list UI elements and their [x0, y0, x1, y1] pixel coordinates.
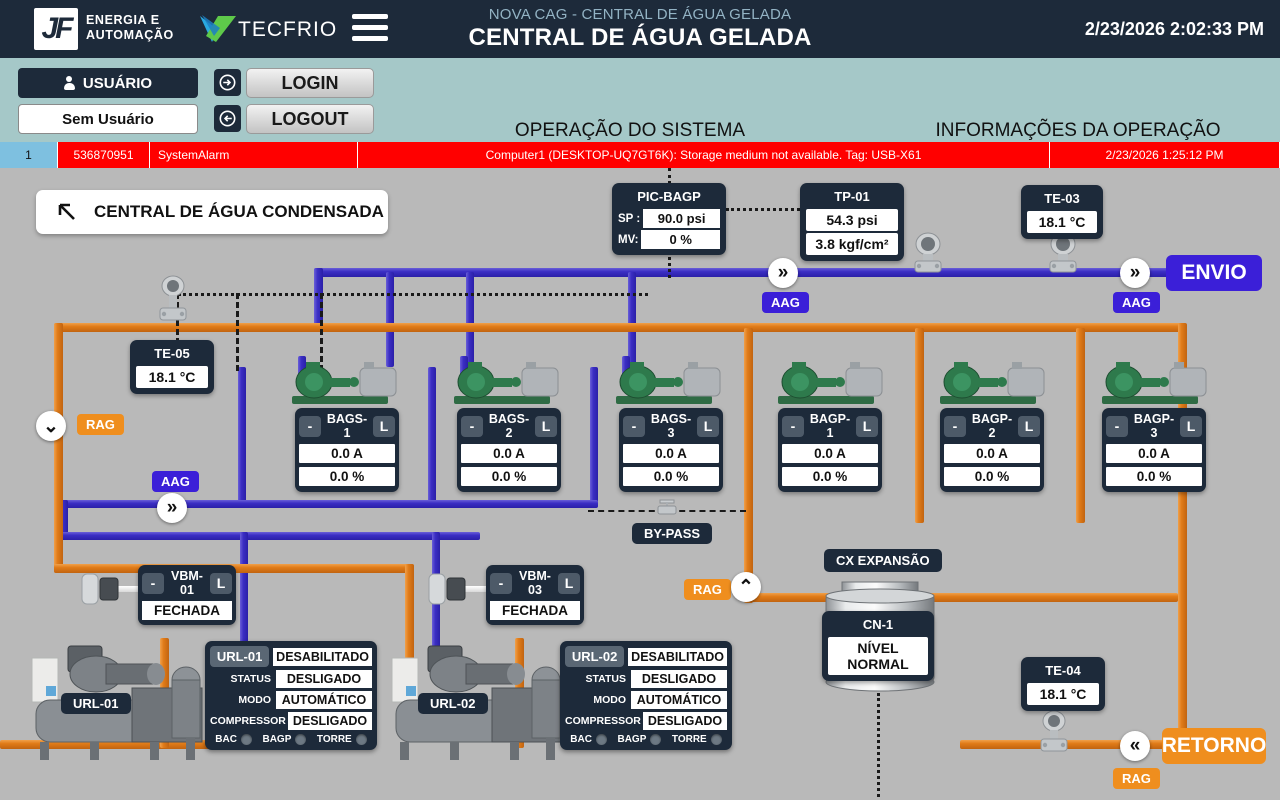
url01-led-torre-icon — [356, 734, 367, 745]
nav-back-retorno[interactable]: « — [1120, 731, 1150, 761]
url02-led-bagp-icon — [650, 734, 661, 745]
url01-led-torre-label: TORRE — [317, 734, 352, 745]
bagp1-current: 0.0 A — [782, 444, 878, 463]
pic-bagp-title: PIC-BAGP — [616, 187, 722, 207]
tp01-value-psi: 54.3 psi — [806, 209, 898, 231]
url02-equip-label: URL-02 — [418, 693, 488, 714]
alarm-timestamp: 2/23/2026 1:25:12 PM — [1050, 142, 1280, 168]
te04-value: 18.1 °C — [1027, 683, 1099, 705]
vbm01-name: VBM-01 — [167, 569, 207, 597]
bagp3-current: 0.0 A — [1106, 444, 1202, 463]
login-button-label: LOGIN — [282, 73, 339, 94]
pic-bagp-controller[interactable]: PIC-BAGP SP : 90.0 psi MV: 0 % — [612, 183, 726, 255]
bypass-valve-icon — [655, 498, 679, 516]
arrow-up-left-icon — [56, 201, 78, 223]
valve-graphic-vbm-01 — [78, 566, 124, 610]
pump-card-bagp-1[interactable]: - BAGP-1 L 0.0 A 0.0 % — [778, 408, 882, 492]
tp01-value-kgf: 3.8 kgf/cm² — [806, 233, 898, 255]
url01-mode-value: AUTOMÁTICO — [276, 691, 372, 709]
bags1-mode-button[interactable]: L — [373, 416, 395, 437]
logout-arrow-icon[interactable] — [214, 105, 241, 132]
vbm03-minus-button[interactable]: - — [490, 573, 512, 594]
pipe-bags2-riser — [466, 272, 474, 367]
url01-compressor-value: DESLIGADO — [288, 712, 372, 730]
bagp2-current: 0.0 A — [944, 444, 1040, 463]
pic-mv-label: MV: — [618, 234, 638, 246]
alarm-number: 1 — [0, 142, 58, 168]
url02-compressor-value: DESLIGADO — [643, 712, 727, 730]
badge-rag-2: RAG — [684, 579, 731, 600]
pipe-bagp-main-drop — [744, 328, 753, 603]
badge-rag-1: RAG — [77, 414, 124, 435]
cn1-level-value: NÍVEL NORMAL — [828, 637, 928, 675]
bags3-minus-button[interactable]: - — [623, 416, 645, 437]
bagp3-minus-button[interactable]: - — [1106, 416, 1128, 437]
vbm01-mode-button[interactable]: L — [210, 573, 232, 594]
login-arrow-icon[interactable] — [214, 69, 241, 96]
pipe-bags3-riser — [628, 272, 636, 367]
bags2-minus-button[interactable]: - — [461, 416, 483, 437]
signal-pic-to-tp01 — [726, 208, 800, 211]
pump-graphic-bags-2 — [450, 360, 568, 406]
expansion-tank-title: CX EXPANSÃO — [824, 549, 942, 572]
pic-mv-value: 0 % — [641, 230, 720, 249]
nav-forward-aag[interactable]: » — [157, 493, 187, 523]
bagp3-speed: 0.0 % — [1106, 467, 1202, 486]
url02-led-bac-icon — [596, 734, 607, 745]
transmitter-icon-1 — [905, 230, 951, 276]
te-05-sensor[interactable]: TE-05 18.1 °C — [130, 340, 214, 394]
bags3-name: BAGS-3 — [648, 412, 694, 440]
vbm03-name: VBM-03 — [515, 569, 555, 597]
pump-graphic-bagp-1 — [774, 360, 892, 406]
nav-up-rag[interactable]: ⌃ — [731, 572, 761, 602]
url01-led-bac-label: BAC — [215, 734, 237, 745]
pipe-bags1-riser — [386, 272, 394, 367]
retorno-button[interactable]: RETORNO — [1162, 728, 1266, 764]
vbm01-minus-button[interactable]: - — [142, 573, 164, 594]
logout-button[interactable]: LOGOUT — [246, 104, 374, 134]
bagp3-name: BAGP-3 — [1131, 412, 1177, 440]
transmitter-icon-4 — [1031, 708, 1077, 756]
nav-down-rag[interactable]: ⌄ — [36, 411, 66, 441]
te03-title: TE-03 — [1025, 189, 1099, 209]
bags3-speed: 0.0 % — [623, 467, 719, 486]
alarm-source: SystemAlarm — [150, 142, 358, 168]
url01-led-bagp-icon — [295, 734, 306, 745]
vbm01-state: FECHADA — [142, 601, 232, 620]
valve-card-vbm-01[interactable]: - VBM-01 L FECHADA — [138, 565, 236, 625]
bags3-current: 0.0 A — [623, 444, 719, 463]
te05-title: TE-05 — [134, 344, 210, 364]
user-button-label: USUÁRIO — [83, 75, 152, 92]
url02-mode-label: MODO — [565, 694, 631, 706]
url01-status-value: DESLIGADO — [276, 670, 372, 688]
nav-forward-envio-2[interactable]: » — [1120, 258, 1150, 288]
signal-tank-to-return — [877, 693, 880, 800]
url02-compressor-label: COMPRESSOR — [565, 715, 643, 727]
tp-01-transmitter[interactable]: TP-01 54.3 psi 3.8 kgf/cm² — [800, 183, 904, 261]
bags2-current: 0.0 A — [461, 444, 557, 463]
alarm-message: Computer1 (DESKTOP-UQ7GT6K): Storage med… — [358, 142, 1050, 168]
bagp2-name: BAGP-2 — [969, 412, 1015, 440]
cn1-title: CN-1 — [826, 615, 930, 635]
pipe-bagp-suction-header — [744, 593, 1178, 602]
bags1-speed: 0.0 % — [299, 467, 395, 486]
pipe-chilled-suction-header — [60, 500, 598, 508]
te03-value: 18.1 °C — [1027, 211, 1097, 233]
vbm03-mode-button[interactable]: L — [558, 573, 580, 594]
pipe-chilled-lower — [60, 532, 480, 540]
te-04-sensor[interactable]: TE-04 18.1 °C — [1021, 657, 1105, 711]
chiller-panel-url-02[interactable]: URL-02 DESABILITADO STATUS DESLIGADO MOD… — [560, 641, 732, 750]
te05-value: 18.1 °C — [136, 366, 208, 388]
bagp2-mode-button[interactable]: L — [1018, 416, 1040, 437]
pump-card-bags-1[interactable]: - BAGS-1 L 0.0 A 0.0 % — [295, 408, 399, 492]
url02-mode-value: AUTOMÁTICO — [631, 691, 727, 709]
url02-status-value: DESLIGADO — [631, 670, 727, 688]
bagp1-name: BAGP-1 — [807, 412, 853, 440]
bagp1-minus-button[interactable]: - — [782, 416, 804, 437]
login-button[interactable]: LOGIN — [246, 68, 374, 98]
user-icon — [64, 76, 75, 90]
pump-graphic-bags-3 — [612, 360, 730, 406]
header-datetime: 2/23/2026 2:02:33 PM — [1085, 19, 1264, 40]
envio-button[interactable]: ENVIO — [1166, 255, 1262, 291]
pic-sp-value[interactable]: 90.0 psi — [643, 209, 720, 228]
badge-aag-2: AAG — [1113, 292, 1160, 313]
url02-tag-button[interactable]: URL-02 — [565, 646, 624, 667]
pipe-bags-suction-3 — [590, 367, 598, 507]
operation-info-label: INFORMAÇÕES DA OPERAÇÃO — [880, 120, 1276, 142]
valve-graphic-vbm-03 — [425, 566, 471, 610]
te04-title: TE-04 — [1025, 661, 1101, 681]
signal-bus-horizontal — [178, 293, 648, 296]
bags1-minus-button[interactable]: - — [299, 416, 321, 437]
alarm-id: 536870951 — [58, 142, 150, 168]
bagp2-minus-button[interactable]: - — [944, 416, 966, 437]
pump-graphic-bags-1 — [288, 360, 406, 406]
url01-equip-label: URL-01 — [61, 693, 131, 714]
url02-enable-state: DESABILITADO — [628, 648, 727, 666]
logout-button-label: LOGOUT — [272, 109, 349, 130]
url02-led-bagp-label: BAGP — [617, 734, 646, 745]
pipe-bags-suction-2 — [428, 367, 436, 507]
url02-status-label: STATUS — [565, 673, 631, 685]
operation-section-label: OPERAÇÃO DO SISTEMA — [420, 120, 840, 142]
nav-forward-envio-1[interactable]: » — [768, 258, 798, 288]
url01-compressor-label: COMPRESSOR — [210, 715, 288, 727]
bags3-mode-button[interactable]: L — [697, 416, 719, 437]
pipe-bags-suction-1 — [238, 367, 246, 507]
badge-rag-3: RAG — [1113, 768, 1160, 789]
current-user-field: Sem Usuário — [18, 104, 198, 134]
url02-led-torre-label: TORRE — [672, 734, 707, 745]
tp01-title: TP-01 — [804, 187, 900, 207]
bags2-name: BAGS-2 — [486, 412, 532, 440]
back-button-label: CENTRAL DE ÁGUA CONDENSADA — [94, 202, 384, 222]
bagp1-mode-button[interactable]: L — [856, 416, 878, 437]
pump-card-bags-3[interactable]: - BAGS-3 L 0.0 A 0.0 % — [619, 408, 723, 492]
bags1-current: 0.0 A — [299, 444, 395, 463]
control-bar: USUÁRIO Sem Usuário LOGIN LOGOUT OPERAÇÃ… — [0, 58, 1280, 142]
bags2-mode-button[interactable]: L — [535, 416, 557, 437]
pipe-bagp1-riser — [915, 328, 924, 523]
bypass-label: BY-PASS — [632, 523, 712, 544]
pipe-bagp2-riser — [1076, 328, 1085, 523]
te-03-sensor[interactable]: TE-03 18.1 °C — [1021, 185, 1103, 239]
url02-led-torre-icon — [711, 734, 722, 745]
process-diagram: CENTRAL DE ÁGUA CONDENSADA PIC-BAGP SP :… — [0, 168, 1280, 800]
chiller-panel-url-01[interactable]: URL-01 DESABILITADO STATUS DESLIGADO MOD… — [205, 641, 377, 750]
url01-tag-button[interactable]: URL-01 — [210, 646, 269, 667]
bagp2-speed: 0.0 % — [944, 467, 1040, 486]
badge-aag-3: AAG — [152, 471, 199, 492]
pump-card-bagp-3[interactable]: - BAGP-3 L 0.0 A 0.0 % — [1102, 408, 1206, 492]
bags2-speed: 0.0 % — [461, 467, 557, 486]
vbm03-state: FECHADA — [490, 601, 580, 620]
url01-status-label: STATUS — [210, 673, 276, 685]
pump-graphic-bagp-2 — [936, 360, 1054, 406]
pump-graphic-bagp-3 — [1098, 360, 1216, 406]
pump-card-bagp-2[interactable]: - BAGP-2 L 0.0 A 0.0 % — [940, 408, 1044, 492]
url01-mode-label: MODO — [210, 694, 276, 706]
pipe-return-header — [54, 323, 1186, 332]
url01-led-bac-icon — [241, 734, 252, 745]
app-header: JF ENERGIA E AUTOMAÇÃO TECFRIO NOVA CAG … — [0, 0, 1280, 58]
url02-led-bac-label: BAC — [570, 734, 592, 745]
transmitter-icon-3 — [150, 273, 196, 325]
bags1-name: BAGS-1 — [324, 412, 370, 440]
pump-card-bags-2[interactable]: - BAGS-2 L 0.0 A 0.0 % — [457, 408, 561, 492]
url01-enable-state: DESABILITADO — [273, 648, 372, 666]
pipe-return-left-drop — [54, 323, 63, 573]
bagp3-mode-button[interactable]: L — [1180, 416, 1202, 437]
badge-aag-1: AAG — [762, 292, 809, 313]
alarm-banner[interactable]: 1 536870951 SystemAlarm Computer1 (DESKT… — [0, 142, 1280, 168]
back-to-condensed-water-button[interactable]: CENTRAL DE ÁGUA CONDENSADA — [36, 190, 388, 234]
bagp1-speed: 0.0 % — [782, 467, 878, 486]
valve-card-vbm-03[interactable]: - VBM-03 L FECHADA — [486, 565, 584, 625]
tank-level-card[interactable]: CN-1 NÍVEL NORMAL — [822, 611, 934, 681]
user-button[interactable]: USUÁRIO — [18, 68, 198, 98]
signal-bags2-branch — [236, 293, 239, 371]
url01-led-bagp-label: BAGP — [262, 734, 291, 745]
pic-sp-label: SP : — [618, 213, 640, 225]
